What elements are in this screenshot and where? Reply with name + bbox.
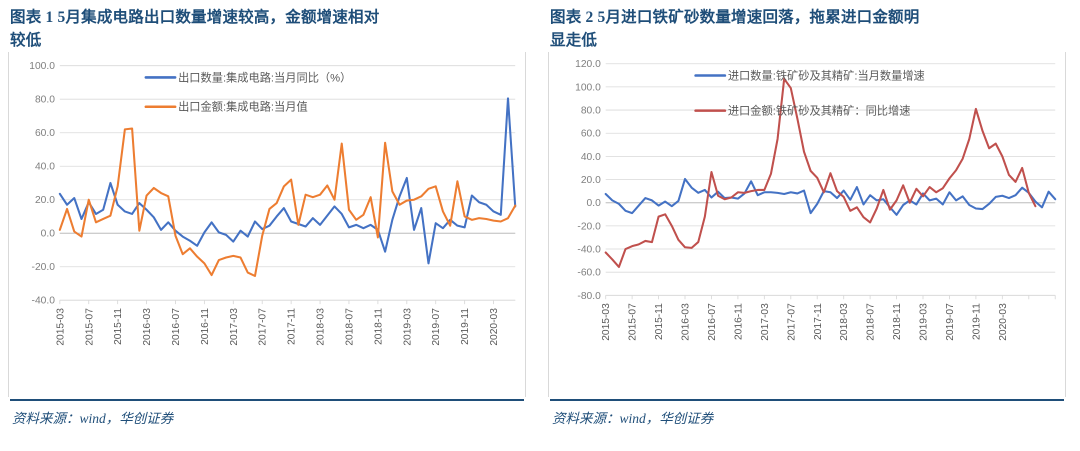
y-axis-tick-label: 60.0	[581, 129, 601, 140]
series-line-1	[60, 98, 515, 263]
figure-2-title-line1: 图表 2 5月进口铁矿砂数量增速回落，拖累进口金额明	[550, 6, 1062, 29]
y-axis-tick-label: 80.0	[581, 106, 601, 117]
figure-1-source: 资料来源：wind，华创证券	[4, 401, 530, 427]
x-axis-tick-label: 2019-11	[971, 303, 982, 340]
x-axis-tick-label: 2017-03	[760, 303, 771, 341]
figure-2-source: 资料来源：wind，华创证券	[544, 401, 1070, 427]
x-axis-tick-label: 2018-07	[345, 308, 356, 346]
x-axis-tick-label: 2017-11	[813, 303, 824, 340]
x-axis-tick-label: 2020-03	[998, 303, 1009, 341]
x-axis-tick-label: 2019-07	[945, 303, 956, 341]
x-axis-tick-label: 2018-11	[892, 303, 903, 340]
x-axis-tick-label: 2016-03	[681, 303, 692, 341]
series-line-1	[606, 179, 1056, 215]
y-axis-tick-label: 20.0	[581, 175, 601, 186]
x-axis-tick-label: 2015-03	[55, 308, 66, 346]
y-axis-tick-label: -40.0	[32, 296, 56, 307]
figure-2-chart-svg: 120.0100.080.060.040.020.00.0-20.0-40.0-…	[549, 52, 1065, 397]
y-axis-tick-label: 100.0	[29, 61, 55, 72]
y-axis-tick-label: 0.0	[587, 198, 602, 209]
x-axis-tick-label: 2020-03	[489, 308, 500, 346]
y-axis-tick-label: 100.0	[575, 82, 601, 93]
y-axis-tick-label: 120.0	[575, 59, 601, 70]
x-axis-tick-label: 2015-11	[113, 308, 124, 345]
figure-2-chart: 120.0100.080.060.040.020.00.0-20.0-40.0-…	[548, 52, 1066, 397]
x-axis-tick-label: 2019-07	[431, 308, 442, 346]
x-axis-tick-label: 2018-11	[373, 308, 384, 345]
x-axis-tick-label: 2018-03	[839, 303, 850, 341]
x-axis-tick-label: 2017-07	[258, 308, 269, 346]
series-line-2	[60, 129, 515, 276]
figure-panel-1: 图表 1 5月集成电路出口数量增速较高，金额增速相对 较低 100.080.06…	[0, 0, 540, 451]
x-axis-tick-label: 2018-07	[866, 303, 877, 341]
x-axis-tick-label: 2019-03	[402, 308, 413, 346]
y-axis-tick-label: 40.0	[35, 162, 55, 173]
x-axis-tick-label: 2015-07	[628, 303, 639, 341]
x-axis-tick-label: 2019-03	[919, 303, 930, 341]
y-axis-tick-label: 60.0	[35, 128, 55, 139]
figure-1-chart: 100.080.060.040.020.00.0-20.0-40.02015-0…	[8, 52, 526, 397]
legend-label-2: 进口金额:铁矿砂及其精矿：同比增速	[728, 104, 911, 118]
y-axis-tick-label: 0.0	[41, 229, 56, 240]
legend-label-1: 出口数量:集成电路:当月同比（%）	[178, 70, 351, 84]
figure-1-chart-svg: 100.080.060.040.020.00.0-20.0-40.02015-0…	[9, 52, 525, 397]
legend-label-2: 出口金额:集成电路:当月值	[178, 100, 308, 114]
legend-label-1: 进口数量:铁矿砂及其精矿:当月数量增速	[728, 68, 925, 82]
x-axis-tick-label: 2017-11	[287, 308, 298, 345]
x-axis-tick-label: 2016-11	[200, 308, 211, 345]
x-axis-tick-label: 2015-03	[601, 303, 612, 341]
y-axis-tick-label: 20.0	[35, 195, 55, 206]
y-axis-tick-label: -40.0	[577, 245, 601, 256]
y-axis-tick-label: -80.0	[577, 291, 601, 302]
y-axis-tick-label: -60.0	[577, 268, 601, 279]
x-axis-tick-label: 2017-03	[229, 308, 240, 346]
x-axis-tick-label: 2016-07	[707, 303, 718, 341]
x-axis-tick-label: 2017-07	[786, 303, 797, 341]
figure-panel-2: 图表 2 5月进口铁矿砂数量增速回落，拖累进口金额明 显走低 120.0100.…	[540, 0, 1080, 451]
figure-2-title: 图表 2 5月进口铁矿砂数量增速回落，拖累进口金额明 显走低	[544, 0, 1070, 48]
x-axis-tick-label: 2016-07	[171, 308, 182, 346]
y-axis-tick-label: -20.0	[577, 221, 601, 232]
x-axis-tick-label: 2016-03	[142, 308, 153, 346]
y-axis-tick-label: 80.0	[35, 95, 55, 106]
x-axis-tick-label: 2016-11	[733, 303, 744, 340]
figure-1-title-line2: 较低	[10, 29, 522, 52]
figure-2-title-line2: 显走低	[550, 29, 1062, 52]
figure-1-title-line1: 图表 1 5月集成电路出口数量增速较高，金额增速相对	[10, 6, 522, 29]
y-axis-tick-label: 40.0	[581, 152, 601, 163]
x-axis-tick-label: 2018-03	[316, 308, 327, 346]
x-axis-tick-label: 2019-11	[460, 308, 471, 345]
y-axis-tick-label: -20.0	[32, 262, 56, 273]
x-axis-tick-label: 2015-07	[84, 308, 95, 346]
x-axis-tick-label: 2015-11	[654, 303, 665, 340]
report-figures-page: 图表 1 5月集成电路出口数量增速较高，金额增速相对 较低 100.080.06…	[0, 0, 1080, 451]
figure-1-title: 图表 1 5月集成电路出口数量增速较高，金额增速相对 较低	[4, 0, 530, 48]
